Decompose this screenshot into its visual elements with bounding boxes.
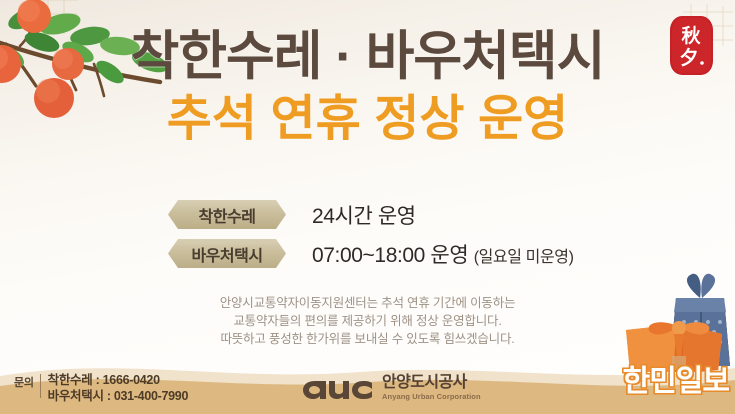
badge-label: 바우처택시 xyxy=(191,242,262,266)
auc-logo: 안양도시공사 Anyang Urban Corporation xyxy=(302,373,481,402)
service-hours-note: (일요일 미운영) xyxy=(474,249,574,266)
service-row: 착한수레 24시간 운영 xyxy=(168,199,638,230)
service-row: 바우처택시 07:00~18:00 운영 (일요일 미운영) xyxy=(168,238,638,269)
contact-phone-line: 착한수레 : 1666-0420 xyxy=(48,372,188,388)
service-hours-text: 24시간 운영 xyxy=(312,200,416,230)
contact-divider xyxy=(40,374,41,398)
service-badge-voucher-taxi: 바우처택시 xyxy=(168,239,286,268)
auc-name-english: Anyang Urban Corporation xyxy=(382,392,481,402)
contact-phone-line: 바우처택시 : 031-400-7990 xyxy=(48,388,188,404)
service-hours-value: 07:00~18:00 운영 xyxy=(312,244,468,267)
auc-name-korean: 안양도시공사 xyxy=(382,374,481,392)
service-hours-text: 07:00~18:00 운영 (일요일 미운영) xyxy=(312,239,574,269)
chuseok-notice-banner: 秋 夕 착한수레 · 바우처택시 추석 연휴 정상 운영 착한수레 24시간 운… xyxy=(0,0,735,414)
chuseok-seal-stamp-icon: 秋 夕 xyxy=(668,14,715,77)
service-badge-chakhan-sure: 착한수레 xyxy=(168,200,286,229)
contact-info-block: 문의 착한수레 : 1666-0420 바우처택시 : 031-400-7990 xyxy=(14,372,188,404)
press-watermark: 한민일보 xyxy=(623,356,729,400)
service-hours-table: 착한수레 24시간 운영 바우처택시 07:00~18:00 운영 (일요일 미… xyxy=(168,199,638,277)
svg-text:夕: 夕 xyxy=(679,46,698,69)
persimmon-branch-illustration xyxy=(0,0,214,125)
contact-label: 문의 xyxy=(14,372,34,390)
svg-text:秋: 秋 xyxy=(681,24,701,47)
badge-label: 착한수레 xyxy=(199,203,256,227)
service-hours-value: 24시간 운영 xyxy=(312,205,416,228)
auc-wordmark-icon xyxy=(302,375,376,401)
